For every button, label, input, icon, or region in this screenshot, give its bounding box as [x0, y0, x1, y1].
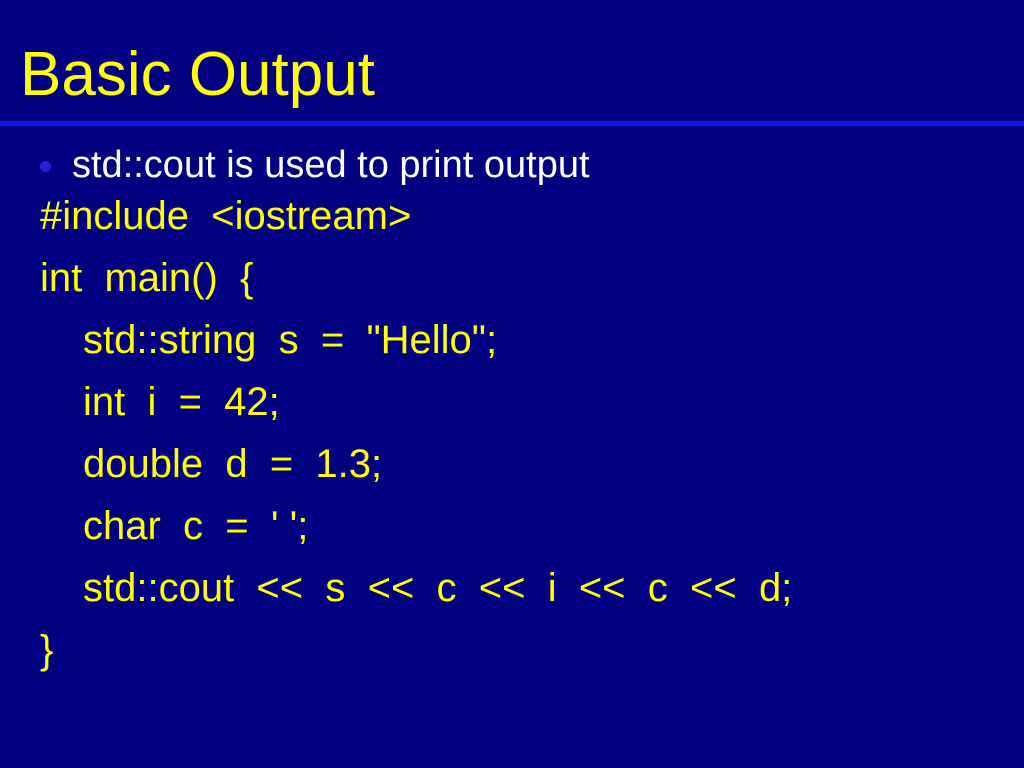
- slide-body: std::cout is used to print output #inclu…: [0, 134, 1024, 768]
- code-line: char c = ' ';: [83, 504, 308, 548]
- bullet-item-label: std::cout is used to print output: [72, 142, 590, 188]
- slide-canvas: Basic Output std::cout is used to print …: [0, 0, 1024, 768]
- page-title: Basic Output: [20, 38, 375, 112]
- code-line: #include <iostream>: [40, 194, 411, 238]
- code-line: int main() {: [40, 256, 253, 300]
- code-line: int i = 42;: [83, 380, 280, 424]
- code-line: std::string s = "Hello";: [83, 318, 497, 362]
- code-line: }: [40, 628, 53, 672]
- code-line: double d = 1.3;: [83, 442, 382, 486]
- code-line: std::cout << s << c << i << c << d;: [83, 566, 792, 610]
- title-divider: [0, 121, 1024, 126]
- bullet-dot-icon: [40, 161, 51, 172]
- list-item: std::cout is used to print output: [40, 142, 590, 188]
